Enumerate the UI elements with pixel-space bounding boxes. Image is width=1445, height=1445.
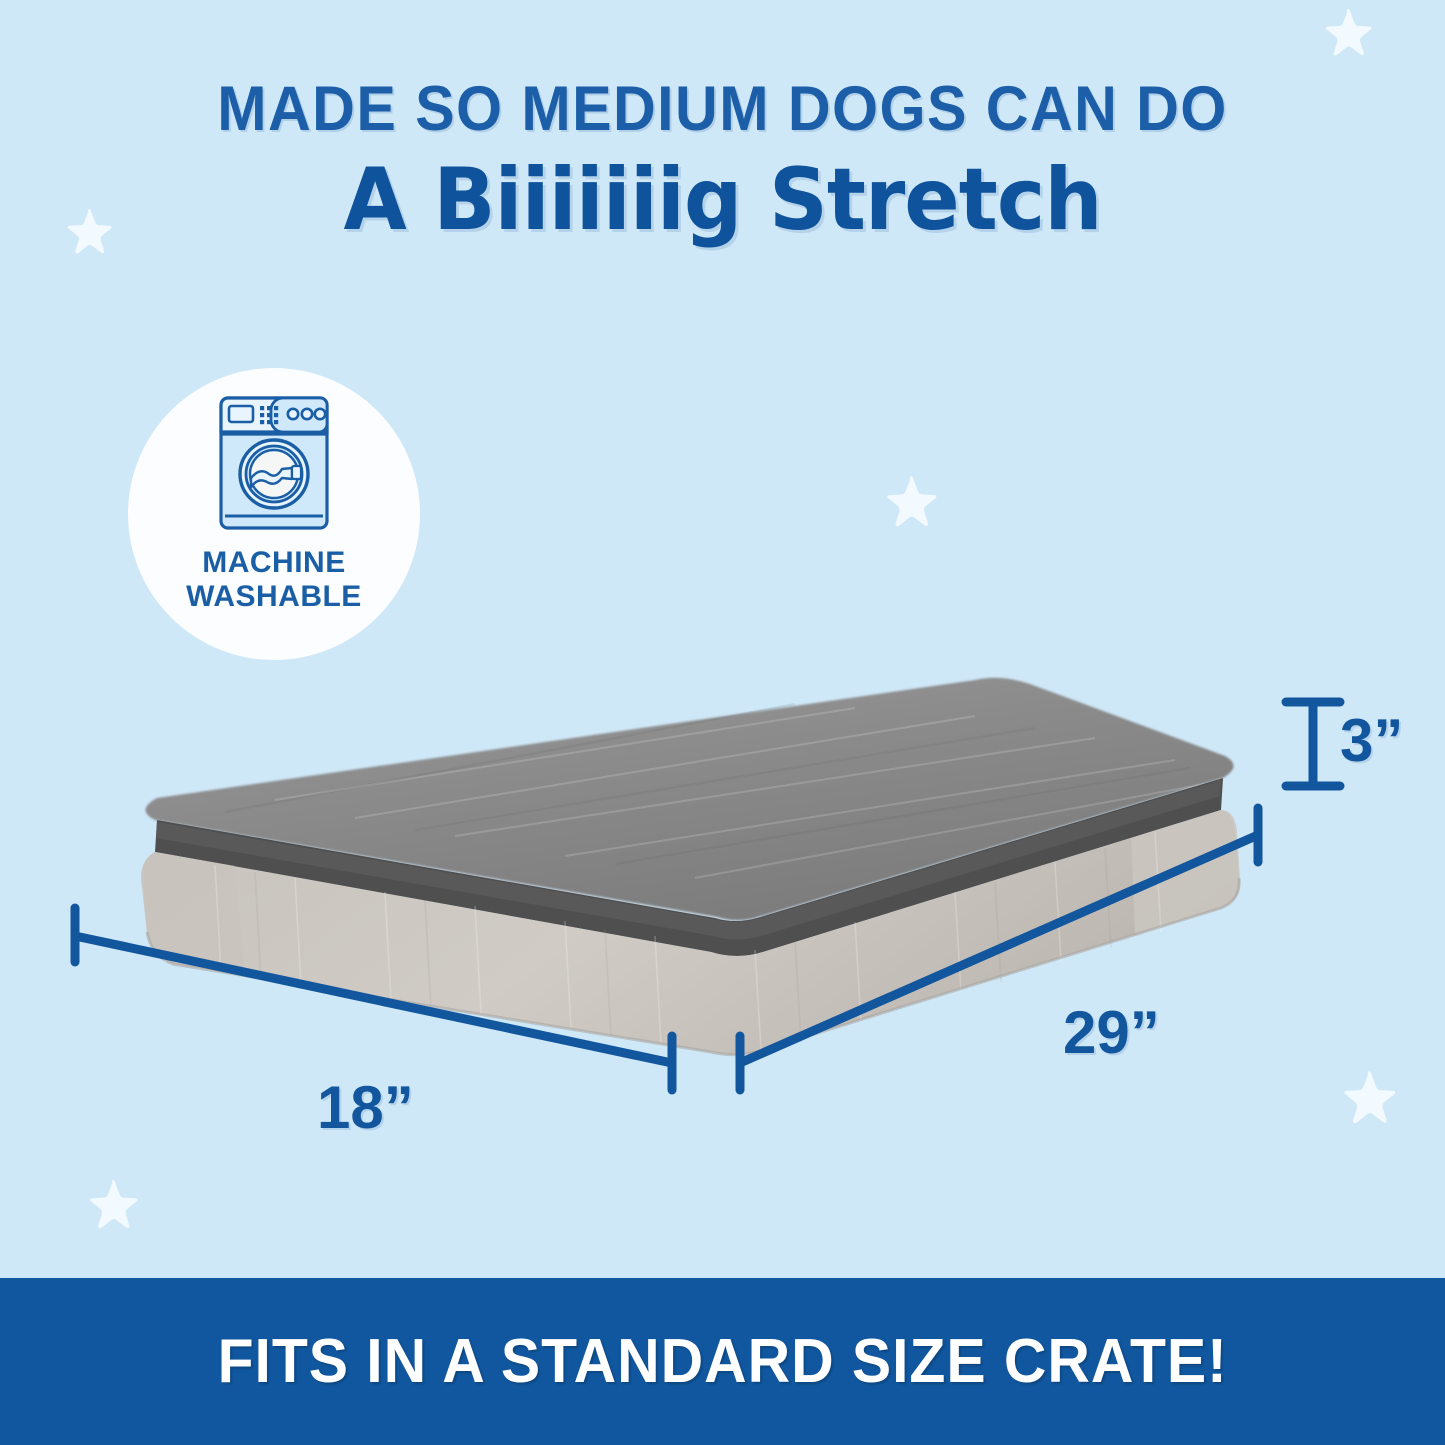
bottom-banner-text: FITS IN A STANDARD SIZE CRATE! — [217, 1326, 1227, 1397]
badge-label-line2: WASHABLE — [186, 580, 362, 614]
headline-main: A Biiiiiiig Stretch — [36, 155, 1409, 245]
machine-washable-badge: MACHINE WASHABLE — [128, 368, 420, 660]
star-lower-left-icon — [86, 1177, 140, 1231]
headline-block: MADE SO MEDIUM DOGS CAN DO A Biiiiiiig S… — [0, 78, 1445, 245]
machine-washable-label: MACHINE WASHABLE — [186, 546, 362, 613]
dimension-label-length: 29” — [1063, 998, 1160, 1067]
headline-eyebrow: MADE SO MEDIUM DOGS CAN DO — [43, 78, 1401, 141]
bottom-banner: FITS IN A STANDARD SIZE CRATE! — [0, 1278, 1445, 1445]
washing-machine-icon — [215, 394, 333, 536]
dimension-label-width: 18” — [317, 1073, 414, 1142]
star-middle-icon — [883, 473, 939, 529]
dimension-label-height: 3” — [1340, 706, 1403, 775]
star-top-right-icon — [1322, 6, 1374, 58]
badge-label-line1: MACHINE — [186, 546, 362, 580]
infographic-canvas: MADE SO MEDIUM DOGS CAN DO A Biiiiiiig S… — [0, 0, 1445, 1445]
star-lower-right-icon — [1340, 1068, 1398, 1126]
